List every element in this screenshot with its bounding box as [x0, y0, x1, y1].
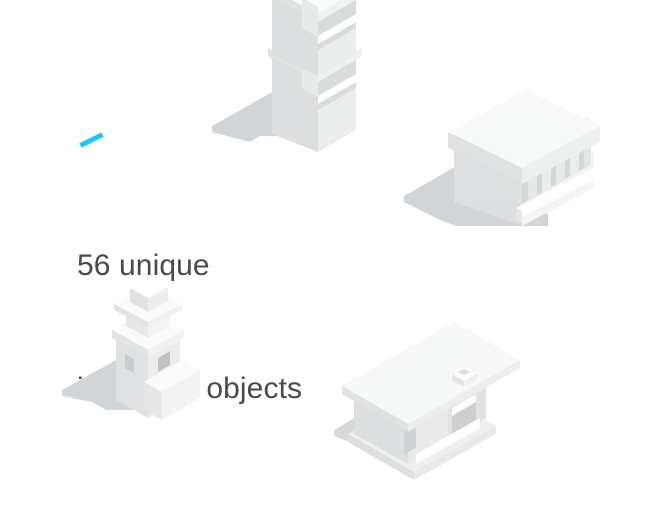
- poster-canvas: 56 unique isometric objects: [0, 0, 672, 508]
- isometric-tower-building: [198, 0, 374, 152]
- isometric-pagoda-tower: [58, 278, 220, 430]
- accent-dash-stroke: [81, 135, 103, 146]
- accent-dash-icon: [78, 132, 105, 148]
- isometric-modern-house: [330, 338, 526, 484]
- isometric-bank-building: [398, 92, 608, 228]
